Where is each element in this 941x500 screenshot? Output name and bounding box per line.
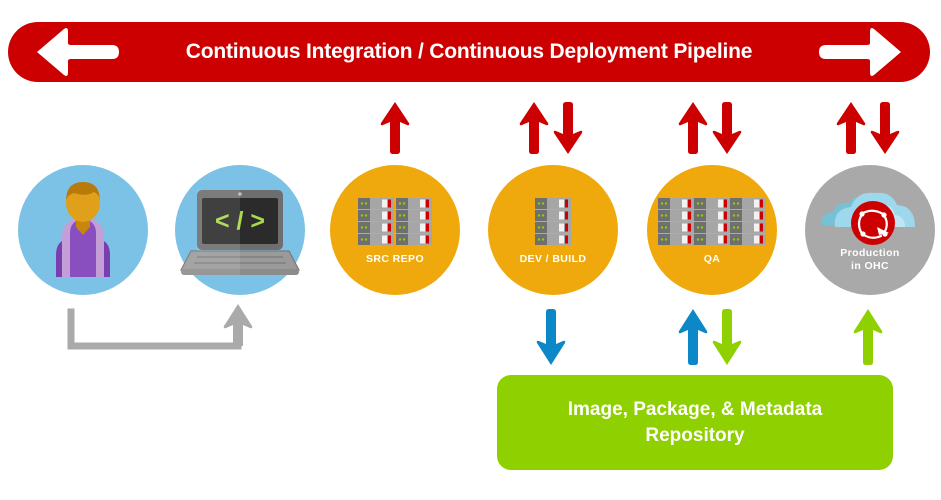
laptop-code-icon: < / >	[175, 165, 305, 295]
repository-label-line2: Repository	[645, 425, 744, 446]
repository-label: Image, Package, & Metadata Repository	[568, 397, 823, 449]
node-label-production: Production	[805, 247, 935, 260]
elbow-arrow-icon	[60, 300, 260, 360]
arrow-up-icon-qa	[677, 101, 709, 155]
node-label-src-repo: SRC REPO	[330, 253, 460, 266]
pipeline-bar: Continuous Integration / Continuous Depl…	[8, 22, 930, 82]
arrow-up-icon-prod	[835, 101, 867, 155]
arrow-down-icon-dev	[552, 101, 584, 155]
node-src-repo[interactable]: SRC REPO	[330, 165, 460, 295]
diagram-canvas: Continuous Integration / Continuous Depl…	[0, 0, 941, 500]
node-qa[interactable]: QA	[647, 165, 777, 295]
arrow-up-icon-prod-repo	[852, 308, 884, 366]
repository-label-line1: Image, Package, & Metadata	[568, 399, 823, 420]
server-rack-icon	[647, 165, 777, 295]
node-label-dev-build: DEV / BUILD	[488, 253, 618, 266]
arrow-right-icon	[818, 27, 904, 77]
node-person[interactable]	[18, 165, 148, 295]
pipeline-title: Continuous Integration / Continuous Depl…	[8, 22, 930, 82]
arrow-down-icon-prod	[869, 101, 901, 155]
arrow-up-icon-src	[379, 101, 411, 155]
node-dev-build[interactable]: DEV / BUILD	[488, 165, 618, 295]
arrow-down-icon-dev-repo	[535, 308, 567, 366]
server-rack-icon	[488, 165, 618, 295]
person-icon	[18, 165, 148, 295]
arrow-down-icon-qa	[711, 101, 743, 155]
node-production[interactable]: Production in OHC	[805, 165, 935, 295]
arrow-up-icon-dev	[518, 101, 550, 155]
arrow-up-icon-qa-repo	[677, 308, 709, 366]
node-label-qa: QA	[647, 253, 777, 266]
repository-box[interactable]: Image, Package, & Metadata Repository	[497, 375, 893, 470]
server-rack-icon	[330, 165, 460, 295]
node-laptop[interactable]: < / >	[175, 165, 305, 295]
arrow-down-icon-qa-repo	[711, 308, 743, 366]
node-label-production-2: in OHC	[805, 260, 935, 273]
cloud-openshift-icon	[805, 165, 935, 295]
